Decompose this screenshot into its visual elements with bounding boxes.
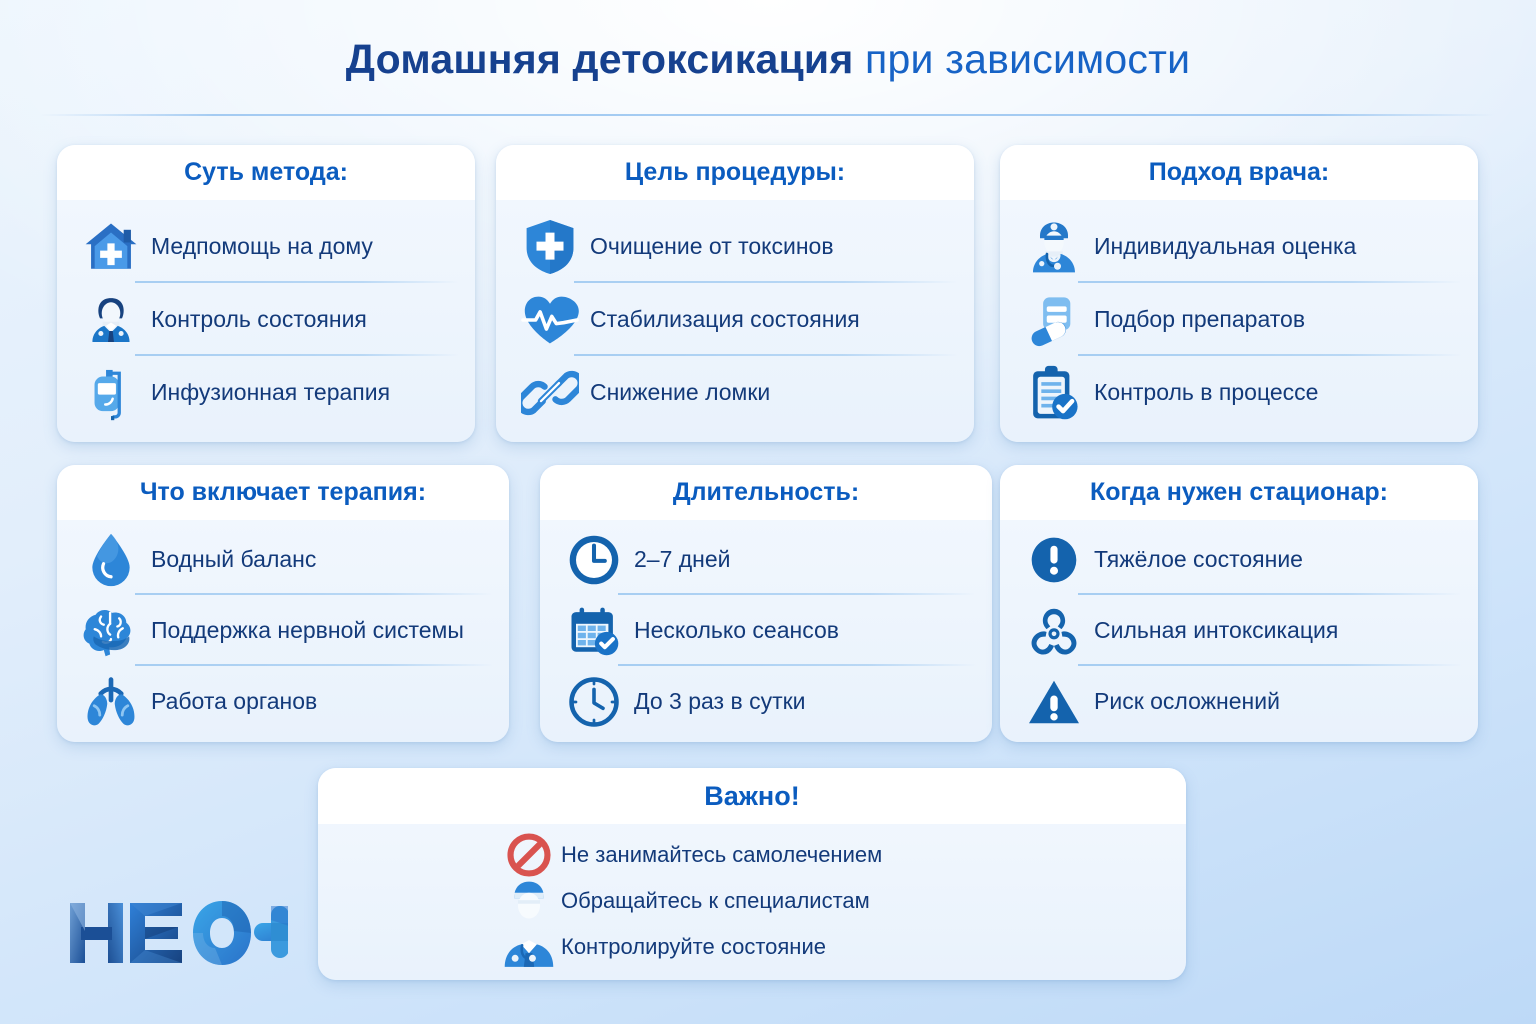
title-divider <box>40 114 1496 116</box>
biohazard-icon <box>1022 605 1086 657</box>
list-item-label: Медпомощь на дому <box>143 233 373 260</box>
list-item[interactable]: Очищение от токсинов <box>496 210 974 283</box>
card-heading: Когда нужен стационар: <box>1090 478 1388 507</box>
list-item[interactable]: Риск осложнений <box>1000 666 1478 737</box>
list-item[interactable]: Обращайтесь к специалистам <box>318 878 1186 924</box>
list-item-label: Инфузионная терапия <box>143 379 390 406</box>
list-item[interactable]: Контроль в процессе <box>1000 356 1478 429</box>
card-heading: Цель процедуры: <box>625 158 845 187</box>
list-item[interactable]: Медпомощь на дому <box>57 210 475 283</box>
card-body: Водный баланс <box>57 520 509 742</box>
card-kogda-nuzhen-stacionar: Когда нужен стационар: Тяжёлое состояние <box>1000 465 1478 742</box>
card-body: 2–7 дней Нескольк <box>540 520 992 742</box>
chain-link-icon <box>518 365 582 421</box>
important-body: Не занимайтесь самолечением Обращайтесь … <box>318 824 1186 970</box>
list-item-label: Контролируйте состояние <box>555 934 826 960</box>
list-item-label: Снижение ломки <box>582 379 770 406</box>
list-item-label: Водный баланс <box>143 546 316 573</box>
page-title: Домашняя детоксикация при зависимости <box>0 36 1536 83</box>
list-item-label: Поддержка нервной системы <box>143 617 464 644</box>
list-item-label: Не занимайтесь самолечением <box>555 842 882 868</box>
logo-neo-plus[interactable] <box>68 895 288 971</box>
list-item[interactable]: Несколько сеансов <box>540 595 992 666</box>
card-header: Подход врача: <box>1000 145 1478 200</box>
water-drop-icon <box>79 532 143 588</box>
list-item[interactable]: Стабилизация состояния <box>496 283 974 356</box>
clock-outline-icon <box>562 675 626 729</box>
card-header: Что включает терапия: <box>57 465 509 520</box>
card-dlitelnost: Длительность: 2–7 дней <box>540 465 992 742</box>
list-item-label: Сильная интоксикация <box>1086 617 1338 644</box>
list-item-label: Несколько сеансов <box>626 617 839 644</box>
doctor-person-icon <box>79 293 143 347</box>
card-heading: Что включает терапия: <box>140 478 426 507</box>
list-item[interactable]: Поддержка нервной системы <box>57 595 509 666</box>
iv-drip-bag-icon <box>79 365 143 421</box>
heart-pulse-icon <box>518 293 582 347</box>
list-item-label: 2–7 дней <box>626 546 731 573</box>
prohibition-icon <box>503 833 555 877</box>
list-item[interactable]: Не занимайтесь самолечением <box>318 832 1186 878</box>
card-header: Когда нужен стационар: <box>1000 465 1478 520</box>
list-item-label: Работа органов <box>143 688 317 715</box>
card-body: Индивидуальная оценка Подбор препаратов <box>1000 200 1478 441</box>
list-item-label: Обращайтесь к специалистам <box>555 888 870 914</box>
card-header: Длительность: <box>540 465 992 520</box>
list-item-label: Контроль в процессе <box>1086 379 1318 406</box>
exclamation-circle-icon <box>1022 535 1086 585</box>
card-body: Очищение от токсинов Стабилизация состоя… <box>496 200 974 441</box>
list-item[interactable]: Снижение ломки <box>496 356 974 429</box>
brain-icon <box>79 605 143 657</box>
list-item-label: Очищение от токсинов <box>582 233 834 260</box>
surgeon-body-icon <box>503 925 555 969</box>
card-header: Суть метода: <box>57 145 475 200</box>
list-item[interactable]: Подбор препаратов <box>1000 283 1478 356</box>
clipboard-check-icon <box>1022 364 1086 422</box>
card-heading: Подход врача: <box>1149 158 1329 187</box>
list-item[interactable]: Индивидуальная оценка <box>1000 210 1478 283</box>
list-item[interactable]: Работа органов <box>57 666 509 737</box>
card-sut-metoda: Суть метода: Медпомощь на дому <box>57 145 475 442</box>
page-title-light: при зависимости <box>853 36 1190 82</box>
list-item[interactable]: Контролируйте состояние <box>318 924 1186 970</box>
card-heading: Суть метода: <box>184 158 348 187</box>
list-item-label: Подбор препаратов <box>1086 306 1305 333</box>
card-body: Тяжёлое состояние Сильная интоксикация <box>1000 520 1478 742</box>
card-podhod-vracha: Подход врача: Индивидуальная оценка <box>1000 145 1478 442</box>
list-item-label: Стабилизация состояния <box>582 306 860 333</box>
list-item-label: Риск осложнений <box>1086 688 1280 715</box>
list-item-label: До 3 раз в сутки <box>626 688 806 715</box>
list-item[interactable]: Инфузионная терапия <box>57 356 475 429</box>
card-header: Цель процедуры: <box>496 145 974 200</box>
house-medical-icon <box>79 218 143 276</box>
shield-plus-icon <box>518 218 582 276</box>
pills-medicine-icon <box>1022 293 1086 347</box>
card-body: Медпомощь на дому Контроль состояния <box>57 200 475 441</box>
list-item[interactable]: 2–7 дней <box>540 524 992 595</box>
list-item[interactable]: До 3 раз в сутки <box>540 666 992 737</box>
surgeon-head-icon <box>503 878 555 924</box>
list-item-label: Индивидуальная оценка <box>1086 233 1356 260</box>
list-item-label: Тяжёлое состояние <box>1086 546 1303 573</box>
clock-filled-icon <box>562 533 626 587</box>
page-title-bold: Домашняя детоксикация <box>346 36 854 82</box>
list-item[interactable]: Сильная интоксикация <box>1000 595 1478 666</box>
list-item[interactable]: Контроль состояния <box>57 283 475 356</box>
card-chto-vklyuchaet-terapiya: Что включает терапия: Водный баланс <box>57 465 509 742</box>
calendar-check-icon <box>562 604 626 658</box>
lungs-icon <box>79 675 143 729</box>
list-item[interactable]: Водный баланс <box>57 524 509 595</box>
warning-triangle-icon <box>1022 677 1086 727</box>
card-cel-procedury: Цель процедуры: Очищение от токсинов Ст <box>496 145 974 442</box>
list-item[interactable]: Тяжёлое состояние <box>1000 524 1478 595</box>
card-heading: Длительность: <box>673 478 859 507</box>
important-header: Важно! <box>318 768 1186 824</box>
list-item-label: Контроль состояния <box>143 306 367 333</box>
important-panel: Важно! Не занимайтесь самолечением <box>318 768 1186 980</box>
doctor-stethoscope-icon <box>1022 218 1086 276</box>
important-heading: Важно! <box>704 781 799 812</box>
